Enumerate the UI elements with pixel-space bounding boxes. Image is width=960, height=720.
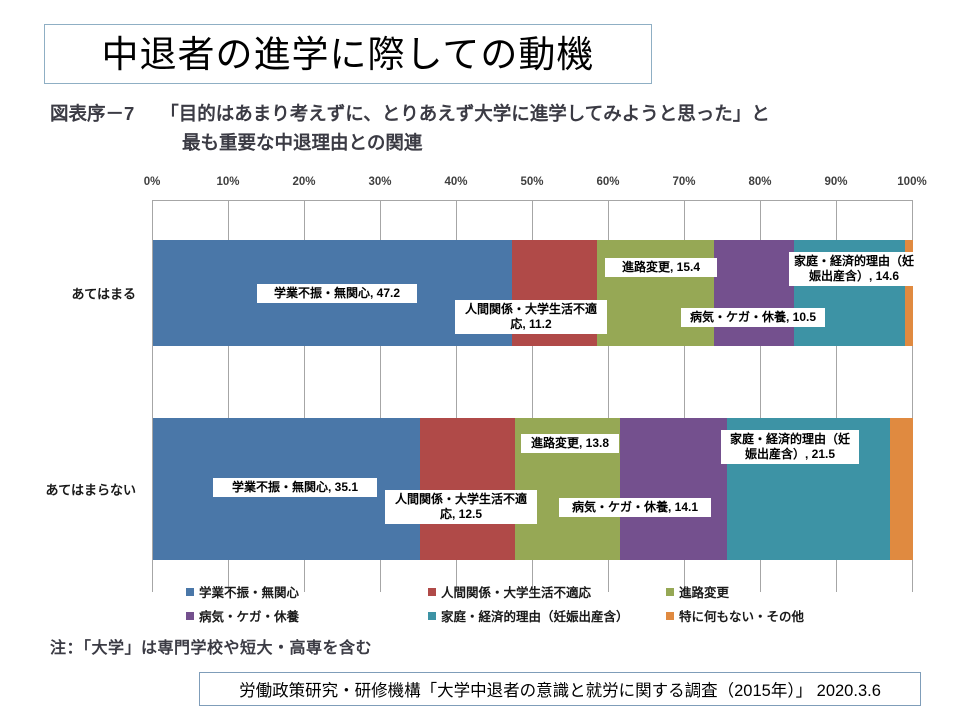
segment-tokuni-nanimonai[interactable] bbox=[890, 418, 913, 560]
source-box: 労働政策研究・研修機構「大学中退者の意識と就労に関する調査（2015年）」 20… bbox=[199, 672, 921, 706]
data-label-b2-katei: 家庭・経済的理由（妊娠出産含）, 21.5 bbox=[721, 430, 859, 464]
chart-legend: 学業不振・無関心 人間関係・大学生活不適応 進路変更 病気・ケガ・休養 家庭・経… bbox=[176, 582, 896, 630]
x-tick-100: 100% bbox=[897, 176, 926, 188]
x-tick-0: 0% bbox=[144, 176, 161, 188]
category-label-atehamaru: あてはまる bbox=[72, 284, 136, 303]
data-label-b2-ningen: 人間関係・大学生活不適応, 12.5 bbox=[385, 490, 537, 524]
x-tick-50: 50% bbox=[520, 176, 543, 188]
legend-item-tokuni-nanimonai[interactable]: 特に何もない・その他 bbox=[666, 606, 804, 625]
x-tick-10: 10% bbox=[216, 176, 239, 188]
x-axis-tick-labels: 0% 10% 20% 30% 40% 50% 60% 70% 80% 90% 1… bbox=[152, 176, 912, 194]
data-label-b1-katei: 家庭・経済的理由（妊娠出産含）, 14.6 bbox=[789, 252, 919, 286]
legend-label: 家庭・経済的理由（妊娠出産含） bbox=[441, 606, 629, 625]
data-label-b1-gakugyou: 学業不振・無関心, 47.2 bbox=[257, 284, 417, 303]
page-title: 中退者の進学に際しての動機 bbox=[102, 36, 595, 73]
segment-byouki-kega[interactable] bbox=[620, 418, 727, 560]
x-tick-90: 90% bbox=[824, 176, 847, 188]
figure-heading-line2: 最も重要な中退理由との関連 bbox=[50, 129, 930, 158]
x-tick-20: 20% bbox=[292, 176, 315, 188]
segment-ningen-kankei[interactable] bbox=[420, 418, 515, 560]
data-label-b1-byouki: 病気・ケガ・休養, 10.5 bbox=[681, 308, 825, 327]
x-tick-40: 40% bbox=[444, 176, 467, 188]
data-label-b1-shinro: 進路変更, 15.4 bbox=[605, 258, 717, 277]
legend-swatch-icon bbox=[186, 612, 194, 620]
figure-number: 図表序－7 bbox=[50, 103, 134, 124]
chart-note: 注：「大学」は専門学校や短大・高専を含む bbox=[50, 634, 372, 658]
legend-label: 病気・ケガ・休養 bbox=[199, 606, 299, 625]
legend-swatch-icon bbox=[428, 612, 436, 620]
stacked-bar-chart: 0% 10% 20% 30% 40% 50% 60% 70% 80% 90% 1… bbox=[0, 168, 960, 638]
slide-title-box: 中退者の進学に際しての動機 bbox=[44, 24, 652, 84]
x-tick-70: 70% bbox=[672, 176, 695, 188]
legend-label: 人間関係・大学生活不適応 bbox=[441, 582, 591, 601]
legend-item-katei-keizai[interactable]: 家庭・経済的理由（妊娠出産含） bbox=[428, 606, 629, 625]
legend-swatch-icon bbox=[428, 588, 436, 596]
x-tick-30: 30% bbox=[368, 176, 391, 188]
legend-item-shinro-henkou[interactable]: 進路変更 bbox=[666, 582, 729, 601]
legend-label: 進路変更 bbox=[679, 582, 729, 601]
segment-shinro-henkou[interactable] bbox=[597, 240, 714, 346]
x-tick-60: 60% bbox=[596, 176, 619, 188]
data-label-b2-gakugyou: 学業不振・無関心, 35.1 bbox=[213, 478, 377, 497]
legend-swatch-icon bbox=[666, 588, 674, 596]
legend-item-gakugyou-fushin[interactable]: 学業不振・無関心 bbox=[186, 582, 299, 601]
legend-label: 特に何もない・その他 bbox=[679, 606, 804, 625]
plot-area: 学業不振・無関心, 47.2 人間関係・大学生活不適応, 11.2 進路変更, … bbox=[152, 200, 912, 592]
figure-heading-line1: 「目的はあまり考えずに、とりあえず大学に進学してみようと思った」と bbox=[160, 103, 769, 124]
source-text: 労働政策研究・研修機構「大学中退者の意識と就労に関する調査（2015年）」 20… bbox=[239, 677, 881, 701]
legend-item-ningen-kankei[interactable]: 人間関係・大学生活不適応 bbox=[428, 582, 591, 601]
figure-heading: 図表序－7「目的はあまり考えずに、とりあえず大学に進学してみようと思った」と 最… bbox=[50, 100, 930, 157]
x-tick-80: 80% bbox=[748, 176, 771, 188]
category-label-atehamaranai: あてはまらない bbox=[46, 480, 136, 499]
legend-label: 学業不振・無関心 bbox=[199, 582, 299, 601]
legend-swatch-icon bbox=[666, 612, 674, 620]
segment-byouki-kega[interactable] bbox=[714, 240, 794, 346]
y-axis-category-labels: あてはまる あてはまらない bbox=[0, 200, 144, 592]
data-label-b1-ningen: 人間関係・大学生活不適応, 11.2 bbox=[455, 300, 607, 334]
legend-item-byouki-kega[interactable]: 病気・ケガ・休養 bbox=[186, 606, 299, 625]
legend-swatch-icon bbox=[186, 588, 194, 596]
data-label-b2-byouki: 病気・ケガ・休養, 14.1 bbox=[559, 498, 711, 517]
data-label-b2-shinro: 進路変更, 13.8 bbox=[521, 434, 619, 453]
